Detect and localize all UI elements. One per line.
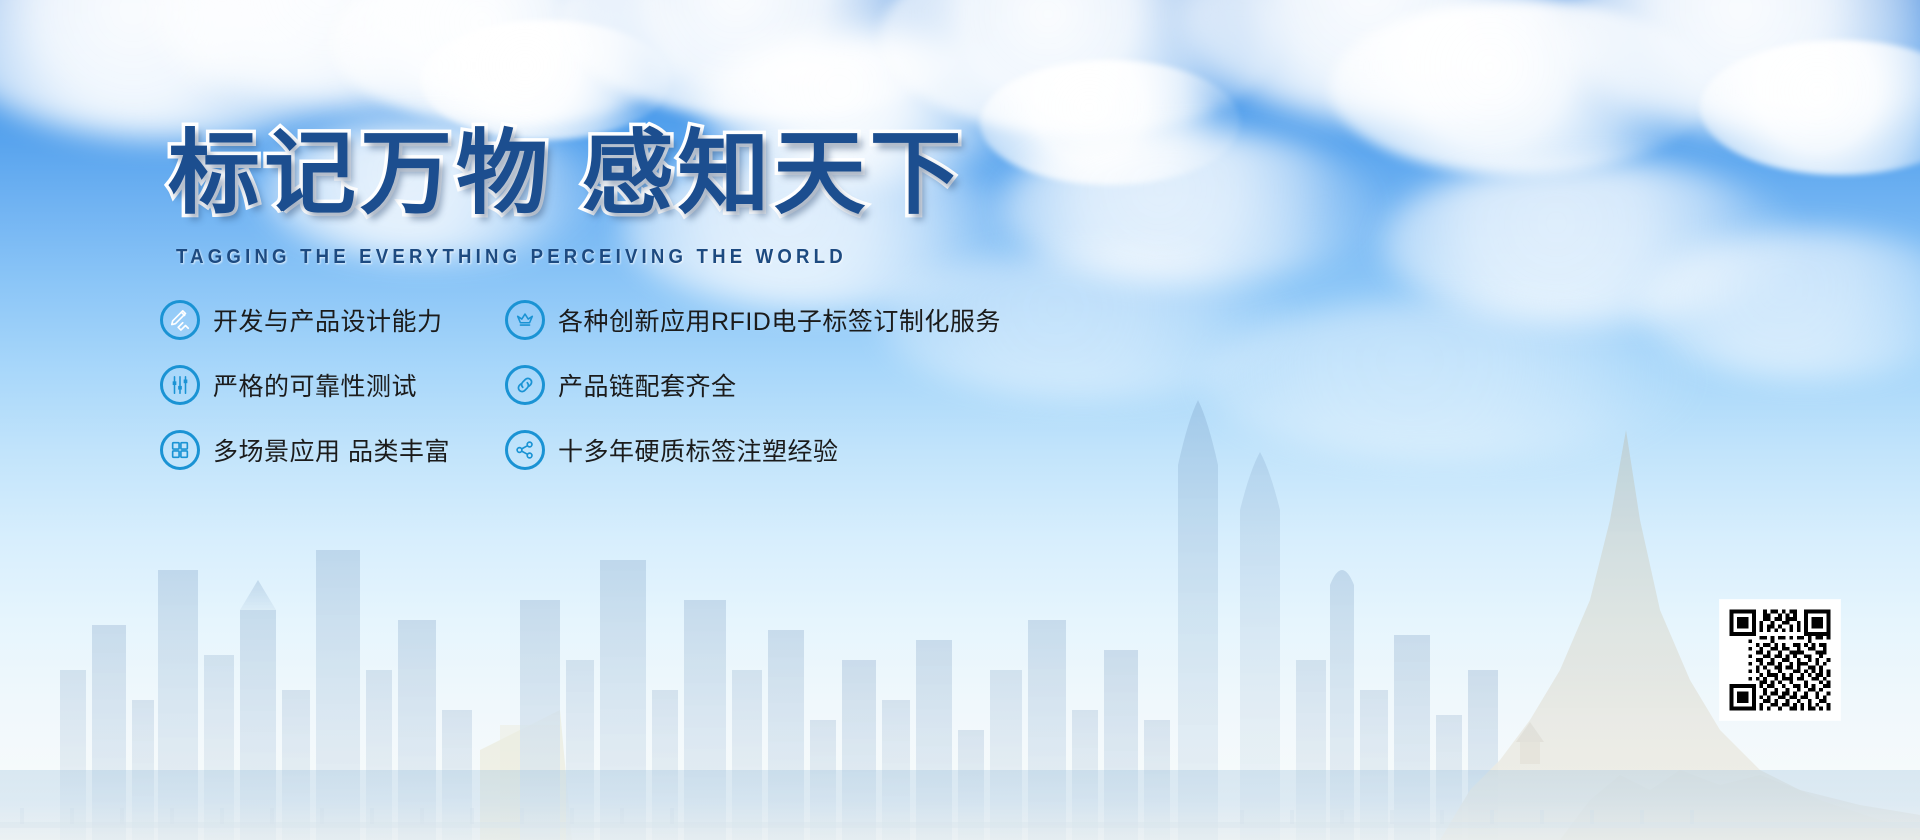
feature-label: 严格的可靠性测试: [213, 367, 417, 403]
feature-item-innovation: 各种创新应用RFID电子标签订制化服务: [505, 288, 1001, 352]
grid-blocks-icon: [160, 430, 200, 470]
feature-label: 十多年硬质标签注塑经验: [558, 432, 839, 468]
feature-label: 多场景应用 品类丰富: [213, 432, 450, 468]
chain-link-icon: [505, 365, 545, 405]
feature-label: 各种创新应用RFID电子标签订制化服务: [558, 302, 1001, 338]
page-title: 标记万物 感知天下: [168, 128, 966, 220]
qr-code[interactable]: [1720, 600, 1840, 720]
feature-item-design: 开发与产品设计能力: [160, 288, 505, 352]
feature-list: 开发与产品设计能力 各种创新应用RFID电子标签订制化服务 严格的可靠性: [160, 288, 1001, 482]
feature-item-experience: 十多年硬质标签注塑经验: [505, 418, 1001, 482]
page-tagline: TAGGING THE EVERYTHING PERCEIVING THE WO…: [176, 246, 910, 269]
share-nodes-icon: [505, 430, 545, 470]
crown-icon: [505, 300, 545, 340]
feature-label: 产品链配套齐全: [558, 367, 737, 403]
feature-label: 开发与产品设计能力: [213, 302, 443, 338]
feature-item-reliability: 严格的可靠性测试: [160, 353, 505, 417]
headline-block: 标记万物 感知天下 TAGGING THE EVERYTHING PERCEIV…: [168, 128, 966, 269]
promotional-banner: 标记万物 感知天下 TAGGING THE EVERYTHING PERCEIV…: [0, 0, 1920, 840]
feature-item-supply: 产品链配套齐全: [505, 353, 1001, 417]
waterfront: [0, 770, 1920, 840]
pencil-ruler-icon: [160, 300, 200, 340]
feature-item-scenarios: 多场景应用 品类丰富: [160, 418, 505, 482]
sliders-icon: [160, 365, 200, 405]
